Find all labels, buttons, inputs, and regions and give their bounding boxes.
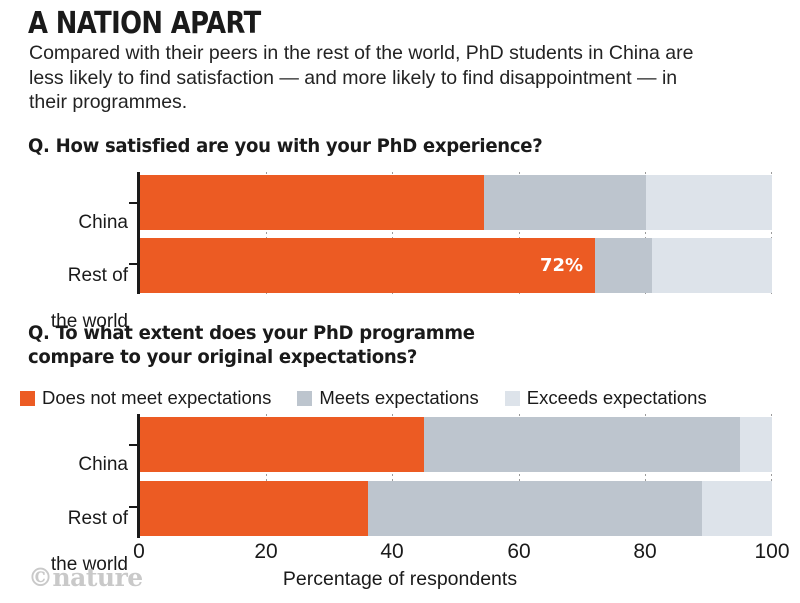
chart-1-rest-seg-meets [595,238,652,293]
chart-2-rest-seg-meets [368,481,703,536]
legend-label-exceeds: Exceeds expectations [527,387,707,409]
chart-2-ytick-china [129,444,138,446]
chart-2-xtick-20: 20 [246,540,286,564]
chart-1-gridline-20 [266,172,267,294]
chart-1-bar-rest-of-world [140,238,772,293]
chart-2-gridline-20 [266,414,267,538]
legend-item-meets: Meets expectations [297,387,478,409]
chart-2-ytick-rest [129,506,138,508]
chart-1-value-label-72: 72% [540,255,583,276]
chart-2-bar-china [140,417,772,472]
chart-1-china-seg-meets [484,175,645,230]
chart-2-xtick-40: 40 [372,540,412,564]
chart-1-bar-china [140,175,772,230]
ylabel-text-line1: Rest of [10,264,128,287]
chart-2-china-seg-does-not-meet [140,417,424,472]
page-subtitle: Compared with their peers in the rest of… [29,41,719,115]
chart-2-rest-seg-exceeds [702,481,772,536]
chart-2-gridline-40 [392,414,393,538]
legend-item-exceeds: Exceeds expectations [505,387,707,409]
chart-1-china-seg-exceeds [646,175,772,230]
ylabel-text: China [78,212,128,233]
question-2-line1: Q. To what extent does your PhD programm… [28,321,598,345]
legend-label-meets: Meets expectations [319,387,478,409]
chart-1-ytick-china [129,202,138,204]
chart-2-gridline-60 [519,414,520,538]
question-2-line2: compare to your original expectations? [28,345,598,369]
chart-2-gridline-100 [771,414,772,538]
question-1-heading: Q. How satisfied are you with your PhD e… [28,135,542,157]
chart-1-gridline-40 [392,172,393,294]
legend: Does not meet expectations Meets expecta… [20,387,707,409]
nature-logo: ©nature [28,563,143,592]
question-2-heading: Q. To what extent does your PhD programm… [28,321,598,369]
chart-2-xtick-100: 100 [746,540,798,564]
chart-1-china-seg-does-not-meet [140,175,484,230]
chart-2-bar-rest-of-world [140,481,772,536]
chart-2-xtick-60: 60 [499,540,539,564]
chart-1-rest-seg-exceeds [652,238,772,293]
chart-2-ylabel-china: China [10,432,128,476]
chart-2-gridline-80 [645,414,646,538]
legend-swatch-meets [297,391,312,406]
chart-2-china-seg-meets [424,417,740,472]
chart-1-rest-seg-does-not-meet [140,238,595,293]
ylabel-text: China [78,454,128,475]
legend-swatch-exceeds [505,391,520,406]
chart-1-gridline-80 [645,172,646,294]
chart-2-y-axis [137,414,140,538]
ylabel-text-line1: Rest of [10,507,128,530]
chart-1-ytick-rest [129,263,138,265]
infographic-root: A NATION APART Compared with their peers… [0,0,800,603]
chart-1-gridline-100 [771,172,772,294]
chart-2-xtick-80: 80 [625,540,665,564]
legend-label-does-not-meet: Does not meet expectations [42,387,271,409]
page-title: A NATION APART [28,6,261,41]
chart-1-y-axis [137,172,140,294]
chart-2-rest-seg-does-not-meet [140,481,368,536]
chart-1-gridline-60 [519,172,520,294]
legend-swatch-does-not-meet [20,391,35,406]
legend-item-does-not-meet: Does not meet expectations [20,387,271,409]
chart-1-ylabel-china: China [10,190,128,234]
chart-2-china-seg-exceeds [740,417,772,472]
chart-2-xtick-0: 0 [119,540,159,564]
